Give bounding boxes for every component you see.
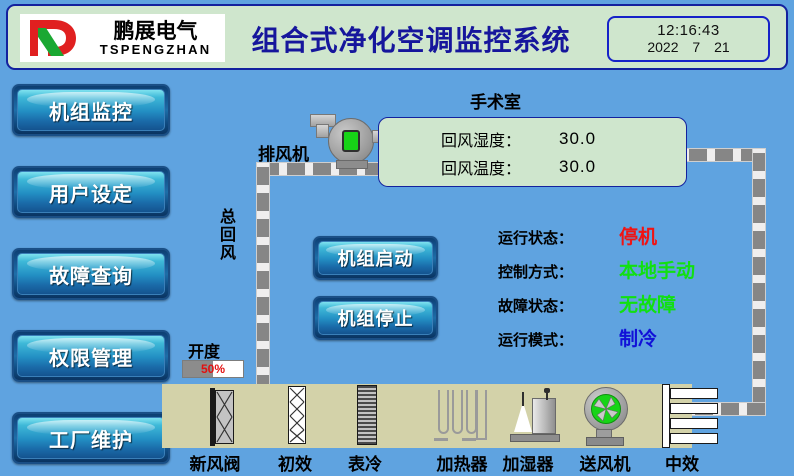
room-info-panel: 回风湿度： 30.0 回风温度： 30.0 bbox=[378, 117, 687, 187]
equipment-label: 送风机 bbox=[580, 450, 631, 475]
equipment-label: 表冷 bbox=[348, 450, 382, 475]
clock-day: 21 bbox=[714, 39, 730, 55]
sidebar-item-unit-monitor[interactable]: 机组监控 bbox=[12, 84, 170, 136]
room-temperature-row: 回风温度： 30.0 bbox=[379, 153, 686, 181]
equipment-label: 中效 bbox=[665, 450, 699, 475]
room-title: 手术室 bbox=[470, 88, 521, 113]
sidebar-item-label: 工厂维护 bbox=[49, 424, 133, 453]
run-mode-value: 制冷 bbox=[619, 324, 657, 351]
primary-filter-icon bbox=[288, 386, 306, 444]
room-temperature-label: 回风温度： bbox=[441, 155, 545, 179]
logo-english-text: TSPENGZHAN bbox=[100, 42, 212, 57]
damper-opening-label: 开度 bbox=[188, 338, 220, 362]
return-air-label: 总回风 bbox=[218, 208, 238, 262]
equipment-label: 初效 bbox=[278, 450, 312, 475]
status-list: 运行状态： 停机 控制方式： 本地手动 故障状态： 无故障 运行模式： 制冷 bbox=[498, 222, 738, 358]
screen-root: 鹏展电气 TSPENGZHAN 组合式净化空调监控系统 12:16:43 202… bbox=[0, 0, 794, 476]
sidebar-item-label: 故障查询 bbox=[49, 260, 133, 289]
exhaust-fan-label: 排风机 bbox=[258, 140, 309, 165]
room-humidity-label: 回风湿度： bbox=[441, 127, 545, 151]
humidifier-icon bbox=[510, 388, 566, 444]
unit-stop-button[interactable]: 机组停止 bbox=[313, 296, 438, 340]
room-temperature-value: 30.0 bbox=[559, 157, 596, 177]
fault-status-value: 无故障 bbox=[619, 290, 676, 317]
sidebar-item-label: 机组监控 bbox=[49, 96, 133, 125]
sidebar-item-permission-manage[interactable]: 权限管理 bbox=[12, 330, 170, 382]
heater-icon bbox=[432, 390, 494, 444]
supply-fan-icon bbox=[580, 387, 638, 445]
status-row-control-mode: 控制方式： 本地手动 bbox=[498, 256, 738, 290]
sidebar-item-label: 用户设定 bbox=[49, 178, 133, 207]
ahu-body bbox=[162, 384, 692, 448]
duct-left-vertical bbox=[256, 162, 270, 388]
equipment-label: 加湿器 bbox=[503, 450, 554, 475]
equipment-label: 新风阀 bbox=[190, 450, 241, 475]
damper-opening-value: 50% bbox=[201, 362, 225, 376]
sidebar-item-fault-query[interactable]: 故障查询 bbox=[12, 248, 170, 300]
unit-start-button[interactable]: 机组启动 bbox=[313, 236, 438, 280]
sidebar-item-label: 权限管理 bbox=[49, 342, 133, 371]
clock-time: 12:16:43 bbox=[657, 22, 719, 39]
fault-status-label: 故障状态： bbox=[498, 295, 593, 316]
control-mode-label: 控制方式： bbox=[498, 261, 593, 282]
clock-date: 2022 7 21 bbox=[642, 39, 734, 56]
fresh-air-damper-icon bbox=[210, 388, 234, 446]
run-status-value: 停机 bbox=[619, 222, 657, 249]
clock-display: 12:16:43 2022 7 21 bbox=[607, 16, 770, 62]
clock-year: 2022 bbox=[647, 39, 678, 55]
room-humidity-row: 回风湿度： 30.0 bbox=[379, 125, 686, 153]
status-row-mode: 运行模式： 制冷 bbox=[498, 324, 738, 358]
control-mode-value: 本地手动 bbox=[619, 256, 695, 283]
run-status-label: 运行状态： bbox=[498, 227, 593, 248]
unit-start-label: 机组启动 bbox=[338, 245, 414, 271]
equipment-label-row: 新风阀 初效 表冷 加热器 加湿器 送风机 中效 bbox=[0, 450, 794, 476]
duct-right-vertical bbox=[752, 148, 766, 416]
unit-stop-label: 机组停止 bbox=[338, 305, 414, 331]
equipment-label: 加热器 bbox=[437, 450, 488, 475]
status-row-run: 运行状态： 停机 bbox=[498, 222, 738, 256]
room-humidity-value: 30.0 bbox=[559, 129, 596, 149]
logo-chinese-text: 鹏展电气 bbox=[114, 20, 198, 42]
status-row-fault: 故障状态： 无故障 bbox=[498, 290, 738, 324]
run-mode-label: 运行模式： bbox=[498, 329, 593, 350]
cooling-coil-icon bbox=[357, 385, 377, 445]
logo-mark-icon bbox=[24, 16, 86, 60]
company-logo: 鹏展电气 TSPENGZHAN bbox=[20, 14, 225, 62]
medium-filter-icon bbox=[662, 384, 724, 448]
clock-month: 7 bbox=[692, 39, 700, 55]
app-header: 鹏展电气 TSPENGZHAN 组合式净化空调监控系统 12:16:43 202… bbox=[6, 4, 788, 70]
page-title: 组合式净化空调监控系统 bbox=[236, 18, 586, 60]
sidebar-item-user-setting[interactable]: 用户设定 bbox=[12, 166, 170, 218]
damper-opening-bar[interactable]: 50% bbox=[182, 360, 244, 378]
